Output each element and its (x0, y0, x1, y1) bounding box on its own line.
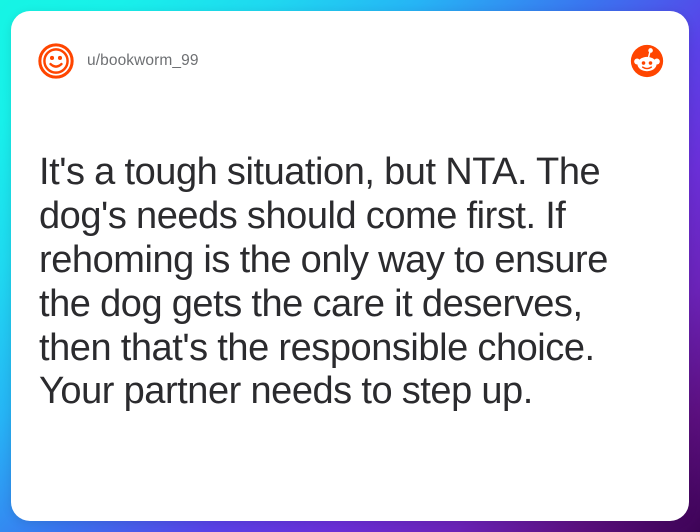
author-block[interactable]: u/bookworm_99 (37, 42, 199, 80)
author-username: u/bookworm_99 (87, 53, 199, 69)
card-header: u/bookworm_99 (11, 11, 689, 95)
screenshot-canvas: u/bookworm_99 It's a tough situation, bu… (0, 0, 700, 532)
reddit-comment-card: u/bookworm_99 It's a tough situation, bu… (11, 11, 689, 521)
comment-text: It's a tough situation, but NTA. The dog… (39, 151, 663, 414)
reddit-snoo-icon[interactable] (630, 44, 664, 78)
smiley-face-icon (37, 42, 75, 80)
